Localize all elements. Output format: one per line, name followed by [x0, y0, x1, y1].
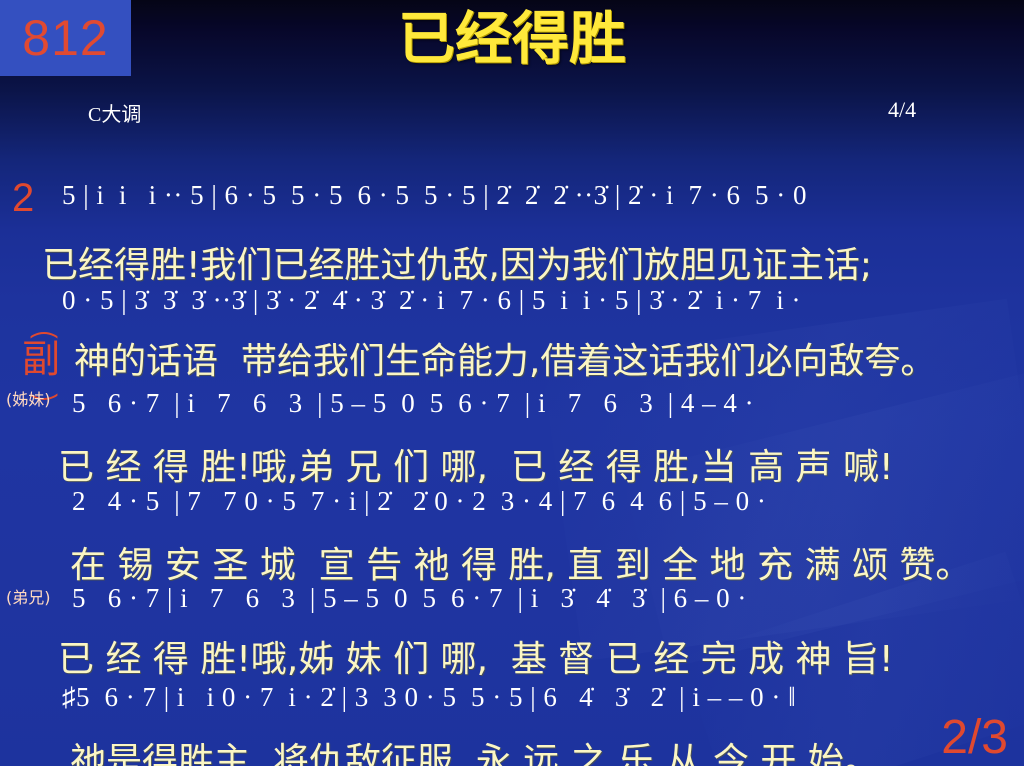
time-signature: 4/4 — [888, 97, 916, 123]
page-title: 已经得胜 — [0, 11, 1024, 68]
hymn-slide: 812 已经得胜 C大调 4/4 2 5 | i i i ·· 5 | 6 · … — [0, 0, 1024, 766]
key-signature: C大调 — [88, 98, 141, 127]
lyric-text: 祂是得胜主, 将仇敌征服, 永 远 之 乐 从 今 开 始。 — [0, 744, 1024, 766]
page-indicator: 2/3 — [941, 714, 1008, 762]
lyric-line-6: 祂是得胜主, 将仇敌征服, 永 远 之 乐 从 今 开 始。 — [0, 672, 1024, 766]
